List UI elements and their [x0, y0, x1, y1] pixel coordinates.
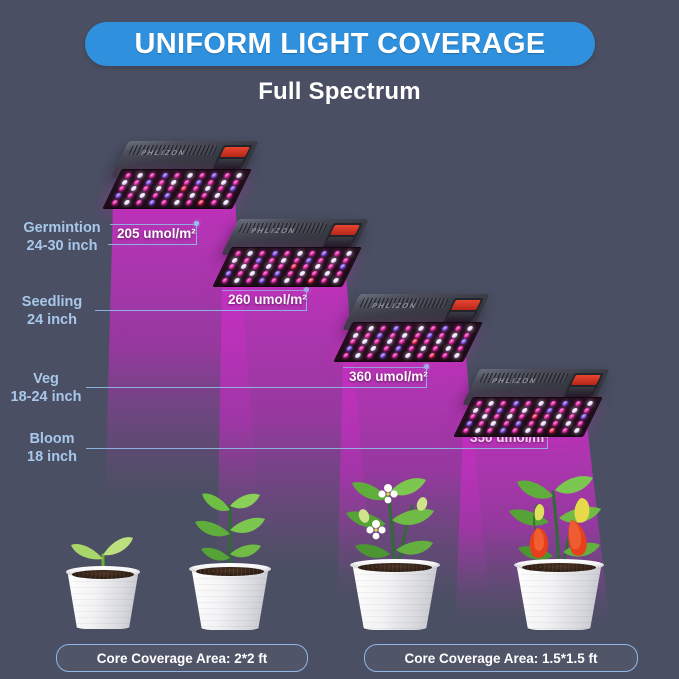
led-diode — [429, 353, 436, 358]
led-diode — [525, 401, 532, 406]
stage-name-veg: Veg — [33, 371, 59, 387]
led-diode — [223, 173, 230, 178]
led-diode — [580, 414, 587, 419]
stage-distance-seedling: 24 inch — [6, 311, 98, 329]
led-diode — [472, 408, 479, 413]
led-diode — [123, 200, 130, 205]
led-diode — [161, 173, 168, 178]
led-diode — [296, 251, 303, 256]
led-diode — [555, 414, 562, 419]
led-diode — [583, 408, 590, 413]
led-diode — [259, 251, 266, 256]
led-diode — [136, 200, 143, 205]
led-diode — [490, 421, 497, 426]
grow-light-fixture-4[interactable]: PHLIZON — [455, 369, 605, 445]
led-diode — [540, 421, 547, 426]
led-diode — [420, 346, 427, 351]
led-diode — [189, 193, 196, 198]
page-title-pill: UNIFORM LIGHT COVERAGE — [85, 22, 595, 66]
led-diode — [295, 278, 302, 283]
stage-name-bloom: Bloom — [29, 431, 74, 447]
coverage-pill-right: Core Coverage Area: 1.5*1.5 ft — [364, 644, 638, 672]
led-diode — [497, 408, 504, 413]
led-diode — [373, 339, 380, 344]
led-diode — [401, 333, 408, 338]
led-diode — [336, 271, 343, 276]
soil — [522, 563, 596, 572]
led-diode — [573, 428, 580, 433]
led-diode — [515, 421, 522, 426]
led-diode — [252, 264, 259, 269]
led-diode — [258, 278, 265, 283]
brand-text: PHLIZON — [249, 228, 297, 235]
led-diode — [151, 193, 158, 198]
led-diode — [127, 193, 134, 198]
led-diode — [574, 401, 581, 406]
led-diode — [289, 264, 296, 269]
brand-text: PHLIZON — [370, 303, 418, 310]
led-diode — [451, 333, 458, 338]
led-diode — [499, 428, 506, 433]
led-diode — [500, 401, 507, 406]
grow-light-fixture-3[interactable]: PHLIZON — [335, 294, 485, 370]
led-diode — [552, 421, 559, 426]
led-diode — [342, 353, 349, 358]
led-diode — [195, 180, 202, 185]
led-diode — [124, 173, 131, 178]
led-array — [453, 397, 603, 437]
led-diode — [293, 258, 300, 263]
led-diode — [137, 173, 144, 178]
stage-distance-bloom: 18 inch — [6, 448, 98, 466]
led-diode — [355, 326, 362, 331]
pot-ridges — [516, 562, 602, 630]
led-diode — [211, 173, 218, 178]
led-diode — [224, 271, 231, 276]
led-diode — [530, 414, 537, 419]
veg-switch[interactable] — [451, 300, 480, 310]
led-diode — [231, 258, 238, 263]
coverage-label-left: Core Coverage Area: 2*2 ft — [97, 651, 268, 666]
led-diode — [179, 186, 186, 191]
led-diode — [521, 408, 528, 413]
soil — [72, 570, 134, 579]
led-diode — [149, 173, 156, 178]
led-diode — [139, 193, 146, 198]
led-diode — [442, 326, 449, 331]
pot-body — [516, 562, 602, 630]
led-diode — [432, 346, 439, 351]
led-diode — [398, 339, 405, 344]
led-diode — [395, 346, 402, 351]
connector-line-seedling — [95, 310, 307, 311]
led-diode — [454, 326, 461, 331]
led-diode — [354, 353, 361, 358]
led-diode — [512, 401, 519, 406]
brand-text: PHLIZON — [139, 150, 187, 157]
led-diode — [511, 428, 518, 433]
led-diode — [562, 401, 569, 406]
power-switch-panel[interactable] — [563, 373, 604, 399]
stage-label-germintion: Germintion 24-30 inch — [12, 219, 112, 255]
led-diode — [389, 333, 396, 338]
power-switch-panel[interactable] — [212, 145, 253, 171]
led-diode — [332, 278, 339, 283]
led-diode — [234, 251, 241, 256]
led-diode — [274, 271, 281, 276]
led-diode — [527, 421, 534, 426]
led-diode — [146, 180, 153, 185]
led-diode — [377, 333, 384, 338]
led-diode — [237, 271, 244, 276]
led-diode — [468, 414, 475, 419]
stage-name-germintion: Germintion — [23, 220, 100, 236]
led-diode — [217, 186, 224, 191]
led-diode — [170, 180, 177, 185]
led-diode — [537, 401, 544, 406]
led-diode — [410, 339, 417, 344]
soil — [196, 567, 263, 576]
led-diode — [284, 251, 291, 256]
led-diode — [423, 339, 430, 344]
led-diode — [487, 428, 494, 433]
led-diode — [568, 414, 575, 419]
led-diode — [299, 271, 306, 276]
led-diode — [158, 180, 165, 185]
veg-switch[interactable] — [220, 147, 249, 157]
led-diode — [268, 258, 275, 263]
led-diode — [481, 414, 488, 419]
led-diode — [417, 326, 424, 331]
brand-text: PHLIZON — [490, 378, 538, 385]
connector-tick-germintion — [196, 224, 197, 245]
led-diode — [587, 401, 594, 406]
led-diode — [364, 333, 371, 338]
led-diode — [448, 339, 455, 344]
led-diode — [404, 353, 411, 358]
led-array — [102, 169, 252, 209]
bloom-switch[interactable] — [325, 237, 354, 247]
flower-pot — [352, 562, 438, 630]
plant-sprout — [53, 515, 153, 629]
led-diode — [367, 353, 374, 358]
led-diode — [198, 200, 205, 205]
led-diode — [509, 408, 516, 413]
led-diode — [488, 401, 495, 406]
led-diode — [155, 186, 162, 191]
soil — [358, 563, 432, 572]
led-diode — [484, 408, 491, 413]
led-diode — [405, 326, 412, 331]
led-diode — [435, 339, 442, 344]
led-diode — [543, 414, 550, 419]
led-diode — [465, 421, 472, 426]
led-diode — [283, 278, 290, 283]
led-diode — [506, 414, 513, 419]
led-diode — [142, 186, 149, 191]
led-diode — [352, 333, 359, 338]
led-diode — [478, 421, 485, 426]
led-diode — [348, 339, 355, 344]
led-diode — [441, 353, 448, 358]
led-diode — [550, 401, 557, 406]
flower-pot — [516, 562, 602, 630]
led-diode — [333, 251, 340, 256]
led-diode — [534, 408, 541, 413]
led-diode — [208, 180, 215, 185]
led-diode — [183, 180, 190, 185]
led-diode — [467, 326, 474, 331]
led-diode — [167, 186, 174, 191]
bloom-switch[interactable] — [215, 159, 244, 169]
led-diode — [204, 186, 211, 191]
connector-top-germintion — [110, 224, 197, 225]
led-diode — [305, 258, 312, 263]
led-diode — [247, 251, 254, 256]
led-diode — [233, 278, 240, 283]
led-diode — [318, 258, 325, 263]
stage-name-seedling: Seedling — [22, 294, 82, 310]
led-diode — [256, 258, 263, 263]
led-diode — [173, 200, 180, 205]
led-diode — [320, 278, 327, 283]
power-switch-panel[interactable] — [322, 223, 363, 249]
led-diode — [148, 200, 155, 205]
coverage-label-right: Core Coverage Area: 1.5*1.5 ft — [404, 651, 597, 666]
led-diode — [392, 326, 399, 331]
led-diode — [536, 428, 543, 433]
power-switch-panel[interactable] — [443, 298, 484, 324]
plant-fruiting — [493, 462, 625, 630]
led-diode — [221, 278, 228, 283]
led-diode — [229, 186, 236, 191]
led-diode — [311, 271, 318, 276]
led-diode — [559, 408, 566, 413]
stage-label-bloom: Bloom 18 inch — [6, 430, 98, 466]
led-diode — [210, 200, 217, 205]
led-diode — [571, 408, 578, 413]
led-diode — [407, 346, 414, 351]
led-diode — [439, 333, 446, 338]
led-diode — [416, 353, 423, 358]
flower-pot — [191, 566, 269, 630]
led-diode — [444, 346, 451, 351]
led-diode — [199, 173, 206, 178]
plant-seedling — [175, 488, 285, 630]
led-diode — [346, 251, 353, 256]
page-subtitle: Full Spectrum — [0, 78, 679, 106]
led-diode — [271, 251, 278, 256]
led-diode — [308, 278, 315, 283]
stage-distance-veg: 18-24 inch — [0, 388, 92, 406]
led-diode — [546, 408, 553, 413]
led-diode — [561, 428, 568, 433]
led-diode — [265, 264, 272, 269]
bloom-switch[interactable] — [566, 387, 595, 397]
stage-distance-germintion: 24-30 inch — [12, 237, 112, 255]
led-diode — [186, 173, 193, 178]
coverage-pill-left: Core Coverage Area: 2*2 ft — [56, 644, 308, 672]
led-diode — [309, 251, 316, 256]
led-diode — [270, 278, 277, 283]
led-diode — [460, 339, 467, 344]
led-diode — [382, 346, 389, 351]
led-diode — [174, 173, 181, 178]
ppfd-value-germintion: 205 umol/m² — [117, 226, 196, 241]
led-diode — [430, 326, 437, 331]
led-diode — [164, 193, 171, 198]
veg-switch[interactable] — [330, 225, 359, 235]
led-diode — [246, 278, 253, 283]
connector-line-veg — [86, 387, 427, 388]
led-diode — [463, 333, 470, 338]
led-diode — [213, 193, 220, 198]
led-diode — [249, 271, 256, 276]
led-diode — [518, 414, 525, 419]
led-diode — [327, 264, 334, 269]
led-diode — [314, 264, 321, 269]
led-diode — [564, 421, 571, 426]
led-diode — [457, 346, 464, 351]
led-diode — [201, 193, 208, 198]
led-diode — [111, 200, 118, 205]
led-diode — [117, 186, 124, 191]
led-diode — [361, 339, 368, 344]
led-diode — [330, 258, 337, 263]
led-diode — [370, 346, 377, 351]
led-diode — [240, 264, 247, 269]
led-diode — [380, 326, 387, 331]
led-diode — [220, 180, 227, 185]
led-diode — [339, 264, 346, 269]
led-diode — [185, 200, 192, 205]
led-array — [212, 247, 362, 287]
led-diode — [379, 353, 386, 358]
flower-pot — [67, 569, 139, 629]
led-diode — [524, 428, 531, 433]
led-diode — [286, 271, 293, 276]
pot-ridges — [352, 562, 438, 630]
led-diode — [261, 271, 268, 276]
led-diode — [227, 264, 234, 269]
led-diode — [321, 251, 328, 256]
stage-label-veg: Veg 18-24 inch — [0, 370, 92, 406]
veg-switch[interactable] — [571, 375, 600, 385]
led-diode — [226, 193, 233, 198]
grow-light-fixture-1[interactable]: PHLIZON — [104, 141, 254, 217]
bloom-switch[interactable] — [446, 312, 475, 322]
led-diode — [386, 339, 393, 344]
ppfd-value-veg: 360 umol/m² — [349, 369, 428, 384]
led-diode — [133, 180, 140, 185]
led-diode — [192, 186, 199, 191]
led-diode — [368, 326, 375, 331]
led-array — [333, 322, 483, 362]
stage-label-seedling: Seedling 24 inch — [6, 293, 98, 329]
led-diode — [342, 258, 349, 263]
led-diode — [426, 333, 433, 338]
grow-light-fixture-2[interactable]: PHLIZON — [214, 219, 364, 295]
plant-flowering — [330, 462, 460, 630]
connector-line-bloom — [86, 448, 548, 449]
led-diode — [160, 200, 167, 205]
led-diode — [493, 414, 500, 419]
led-diode — [277, 264, 284, 269]
led-diode — [232, 180, 239, 185]
led-diode — [345, 346, 352, 351]
connector-line-germintion — [108, 244, 197, 245]
led-diode — [475, 401, 482, 406]
led-diode — [358, 346, 365, 351]
led-diode — [462, 428, 469, 433]
led-diode — [222, 200, 229, 205]
led-diode — [323, 271, 330, 276]
led-diode — [549, 428, 556, 433]
led-diode — [577, 421, 584, 426]
led-diode — [130, 186, 137, 191]
infographic-canvas: UNIFORM LIGHT COVERAGE Full Spectrum 205… — [0, 0, 679, 679]
led-diode — [280, 258, 287, 263]
led-diode — [414, 333, 421, 338]
led-diode — [302, 264, 309, 269]
led-diode — [474, 428, 481, 433]
page-title: UNIFORM LIGHT COVERAGE — [135, 28, 546, 61]
led-diode — [391, 353, 398, 358]
led-diode — [121, 180, 128, 185]
led-diode — [243, 258, 250, 263]
led-diode — [176, 193, 183, 198]
led-diode — [114, 193, 121, 198]
led-diode — [453, 353, 460, 358]
led-diode — [236, 173, 243, 178]
led-diode — [502, 421, 509, 426]
pot-body — [352, 562, 438, 630]
